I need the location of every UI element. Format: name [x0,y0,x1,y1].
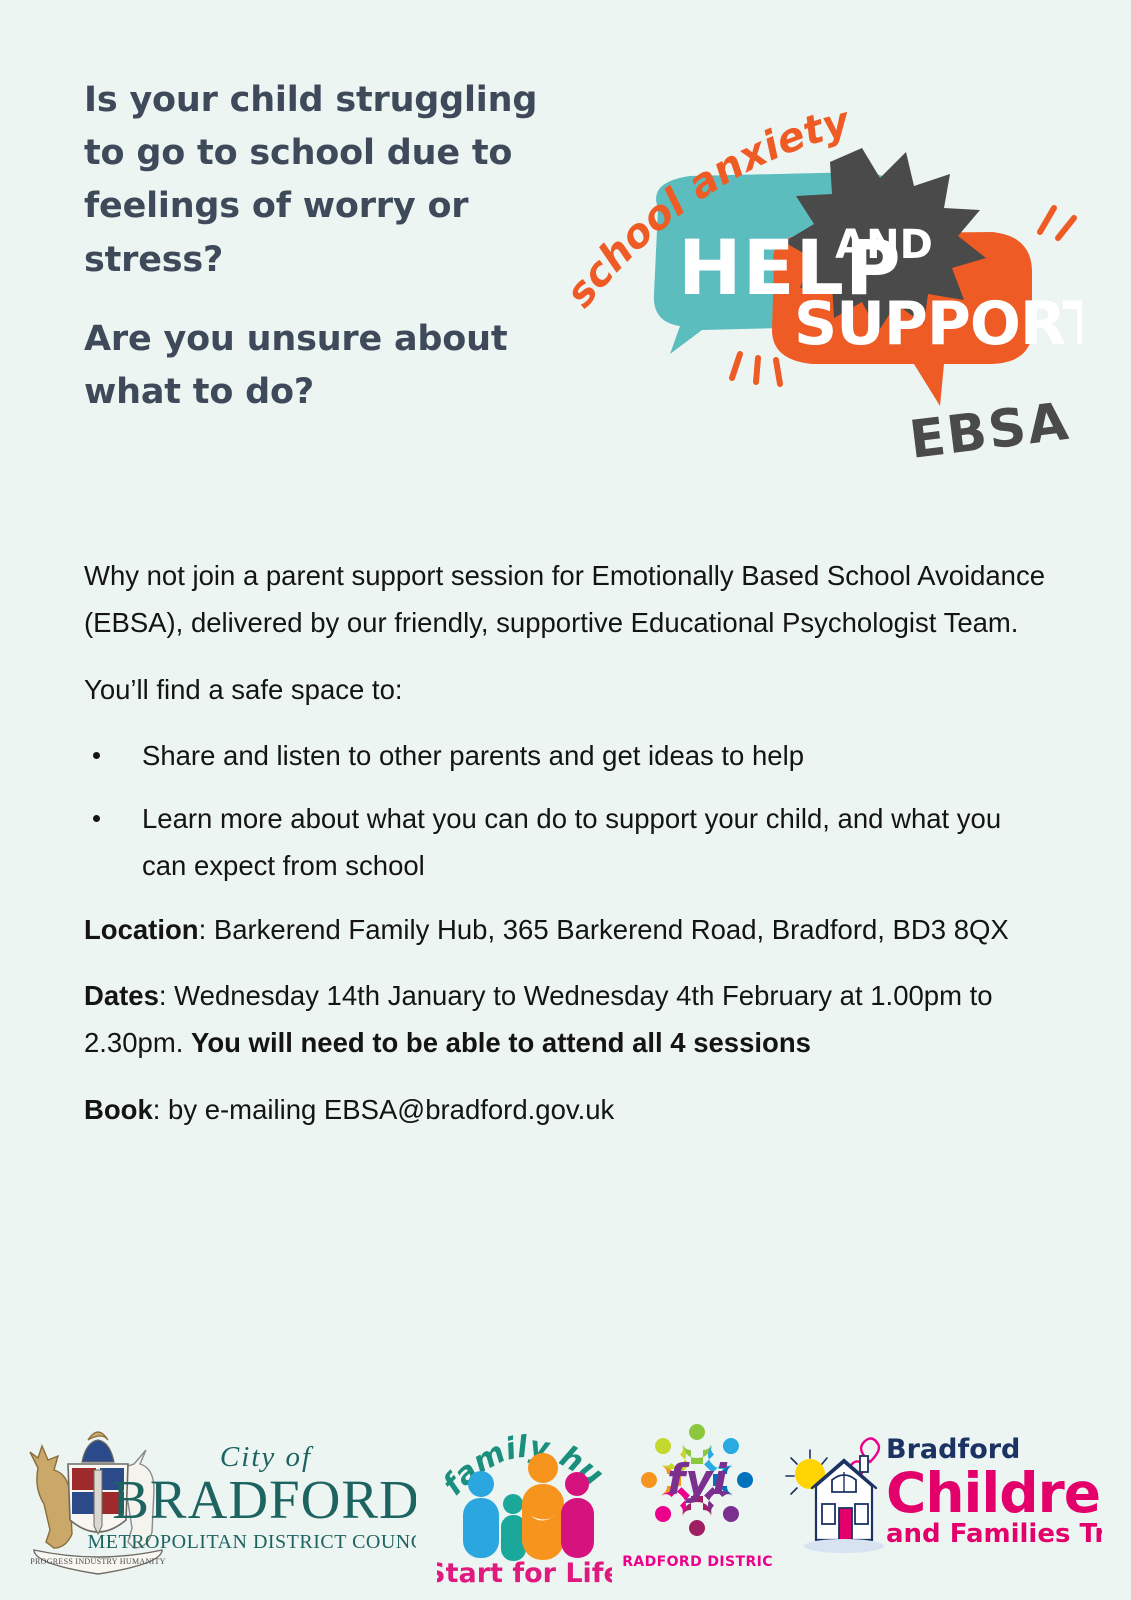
bcft-line-children: Children [886,1461,1102,1525]
ebsa-help-and-support-logo: HELP AND SUPPORT school anxiety EBSA [562,86,1082,476]
dates-paragraph: Dates: Wednesday 14th January to Wednesd… [84,972,1052,1067]
fyi-bradford-district-logo: fyi BRADFORD DISTRICT [622,1408,772,1583]
headline-question-1: Is your child struggling to go to school… [84,74,554,287]
list-item: Share and listen to other parents and ge… [84,732,1052,779]
family-hub-logo: family hub Start for Life [437,1398,612,1588]
motion-lines-left-icon [732,354,780,384]
headline-block: Is your child struggling to go to school… [84,74,554,419]
booking-paragraph: Book: by e-mailing EBSA@bradford.gov.uk [84,1086,1052,1133]
dates-label: Dates [84,980,159,1011]
logo-text-support: SUPPORT [794,289,1082,359]
motion-lines-icon [1040,208,1074,238]
family-hub-sub-text: Start for Life [437,1558,612,1588]
location-value: : Barkerend Family Hub, 365 Barkerend Ro… [199,914,1009,945]
book-value: : by e-mailing EBSA@bradford.gov.uk [153,1094,615,1125]
location-paragraph: Location: Barkerend Family Hub, 365 Bark… [84,906,1052,953]
logo-acronym-ebsa: EBSA [906,392,1073,471]
list-item: Learn more about what you can do to supp… [84,795,1052,890]
bcft-line-and-families-trust: and Families Trust [886,1519,1102,1549]
benefits-list: Share and listen to other parents and ge… [84,732,1052,890]
bradford-council-logo: PROGRESS INDUSTRY HUMANITY City of BRADF… [16,1408,416,1578]
book-label: Book [84,1094,153,1125]
fyi-wordmark: fyi [667,1455,728,1504]
body-copy: Why not join a parent support session fo… [84,552,1052,1152]
intro-paragraph: Why not join a parent support session fo… [84,552,1052,647]
bradford-children-families-trust-logo: Bradford Children and Families Trust [782,1416,1102,1566]
council-line-bradford: BRADFORD [112,1469,416,1530]
lead-in-paragraph: You’ll find a safe space to: [84,666,1052,713]
logo-text-and: AND [835,222,933,268]
poster-root: Is your child struggling to go to school… [0,0,1131,1600]
dates-emphasis: You will need to be able to attend all 4… [191,1027,811,1058]
footer-logo-row: PROGRESS INDUSTRY HUMANITY City of BRADF… [0,1398,1131,1588]
council-line-metropolitan: METROPOLITAN DISTRICT COUNCIL [88,1531,416,1553]
council-motto: PROGRESS INDUSTRY HUMANITY [30,1557,166,1566]
fyi-sub-text: BRADFORD DISTRICT [622,1554,772,1570]
location-label: Location [84,914,199,945]
headline-question-2: Are you unsure about what to do? [84,313,554,419]
